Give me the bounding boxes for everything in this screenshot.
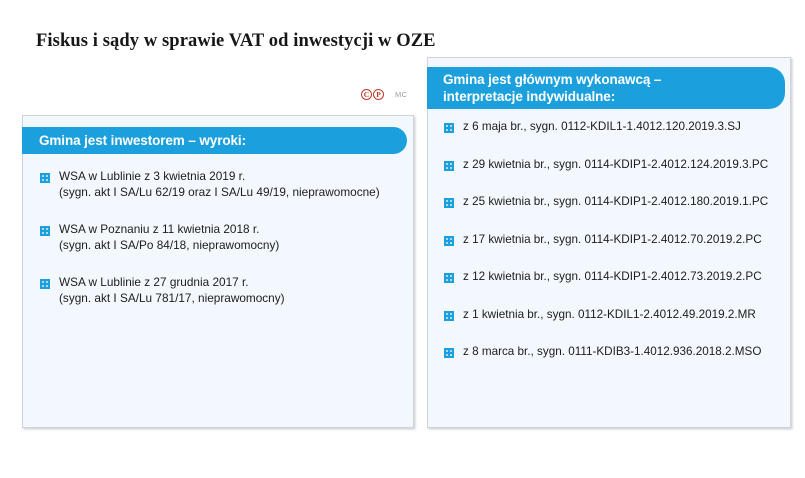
panel-right-header: Gmina jest głównym wykonawcą – interpret… xyxy=(427,67,785,109)
copyright-c-icon: C xyxy=(361,89,372,100)
list-item-text: z 25 kwietnia br., sygn. 0114-KDIP1-2.40… xyxy=(463,194,768,209)
watermark: C P MC xyxy=(361,89,407,100)
list-item-text: WSA w Lublinie z 27 grudnia 2017 r. (syg… xyxy=(59,275,285,306)
grid-bullet-icon xyxy=(444,198,454,208)
grid-bullet-icon xyxy=(444,311,454,321)
panel-right-header-label: Gmina jest głównym wykonawcą – interpret… xyxy=(443,71,661,106)
grid-bullet-icon xyxy=(444,236,454,246)
panel-right-header-line2: interpretacje indywidualne: xyxy=(443,89,615,104)
list-item-main: WSA w Poznaniu z 11 kwietnia 2018 r. xyxy=(59,222,259,236)
grid-bullet-icon xyxy=(444,348,454,358)
panel-left-header: Gmina jest inwestorem – wyroki: xyxy=(22,127,407,154)
grid-bullet-icon xyxy=(444,161,454,171)
list-item-text: z 1 kwietnia br., sygn. 0112-KDIL1-2.401… xyxy=(463,307,756,322)
list-item: z 8 marca br., sygn. 0111-KDIB3-1.4012.9… xyxy=(428,344,790,359)
grid-bullet-icon xyxy=(444,273,454,283)
list-item-text: z 29 kwietnia br., sygn. 0114-KDIP1-2.40… xyxy=(463,157,768,172)
grid-bullet-icon xyxy=(40,226,50,236)
list-item-main: WSA w Lublinie z 3 kwietnia 2019 r. xyxy=(59,169,245,183)
panel-left-list: WSA w Lublinie z 3 kwietnia 2019 r. (syg… xyxy=(23,169,413,328)
list-item: z 12 kwietnia br., sygn. 0114-KDIP1-2.40… xyxy=(428,269,790,284)
panel-left-header-label: Gmina jest inwestorem – wyroki: xyxy=(39,133,246,148)
list-item-text: WSA w Poznaniu z 11 kwietnia 2018 r. (sy… xyxy=(59,222,279,253)
list-item: WSA w Poznaniu z 11 kwietnia 2018 r. (sy… xyxy=(23,222,413,253)
list-item: z 17 kwietnia br., sygn. 0114-KDIP1-2.40… xyxy=(428,232,790,247)
list-item: z 25 kwietnia br., sygn. 0114-KDIP1-2.40… xyxy=(428,194,790,209)
grid-bullet-icon xyxy=(40,173,50,183)
list-item-text: WSA w Lublinie z 3 kwietnia 2019 r. (syg… xyxy=(59,169,380,200)
list-item-text: z 12 kwietnia br., sygn. 0114-KDIP1-2.40… xyxy=(463,269,762,284)
list-item: z 29 kwietnia br., sygn. 0114-KDIP1-2.40… xyxy=(428,157,790,172)
list-item: WSA w Lublinie z 3 kwietnia 2019 r. (syg… xyxy=(23,169,413,200)
list-item: z 1 kwietnia br., sygn. 0112-KDIL1-2.401… xyxy=(428,307,790,322)
list-item-sub: (sygn. akt I SA/Po 84/18, nieprawomocny) xyxy=(59,238,279,254)
list-item-main: WSA w Lublinie z 27 grudnia 2017 r. xyxy=(59,275,249,289)
list-item-text: z 8 marca br., sygn. 0111-KDIB3-1.4012.9… xyxy=(463,344,761,359)
list-item-sub: (sygn. akt I SA/Lu 62/19 oraz I SA/Lu 49… xyxy=(59,185,380,201)
list-item-text: z 6 maja br., sygn. 0112-KDIL1-1.4012.12… xyxy=(463,119,741,134)
grid-bullet-icon xyxy=(40,279,50,289)
panel-gmina-inwestorem: Gmina jest inwestorem – wyroki: WSA w Lu… xyxy=(22,115,414,428)
list-item-text: z 17 kwietnia br., sygn. 0114-KDIP1-2.40… xyxy=(463,232,762,247)
copyright-p-icon: P xyxy=(373,89,384,100)
list-item: z 6 maja br., sygn. 0112-KDIL1-1.4012.12… xyxy=(428,119,790,134)
panel-right-list: z 6 maja br., sygn. 0112-KDIL1-1.4012.12… xyxy=(428,119,790,382)
page-title: Fiskus i sądy w sprawie VAT od inwestycj… xyxy=(36,31,436,52)
list-item: WSA w Lublinie z 27 grudnia 2017 r. (syg… xyxy=(23,275,413,306)
copyright-logo: C P xyxy=(361,89,384,100)
watermark-label: MC xyxy=(395,90,407,99)
grid-bullet-icon xyxy=(444,123,454,133)
panel-gmina-wykonawca: Gmina jest głównym wykonawcą – interpret… xyxy=(427,57,791,428)
list-item-sub: (sygn. akt I SA/Lu 781/17, nieprawomocny… xyxy=(59,291,285,307)
panel-right-header-line1: Gmina jest głównym wykonawcą – xyxy=(443,72,661,87)
